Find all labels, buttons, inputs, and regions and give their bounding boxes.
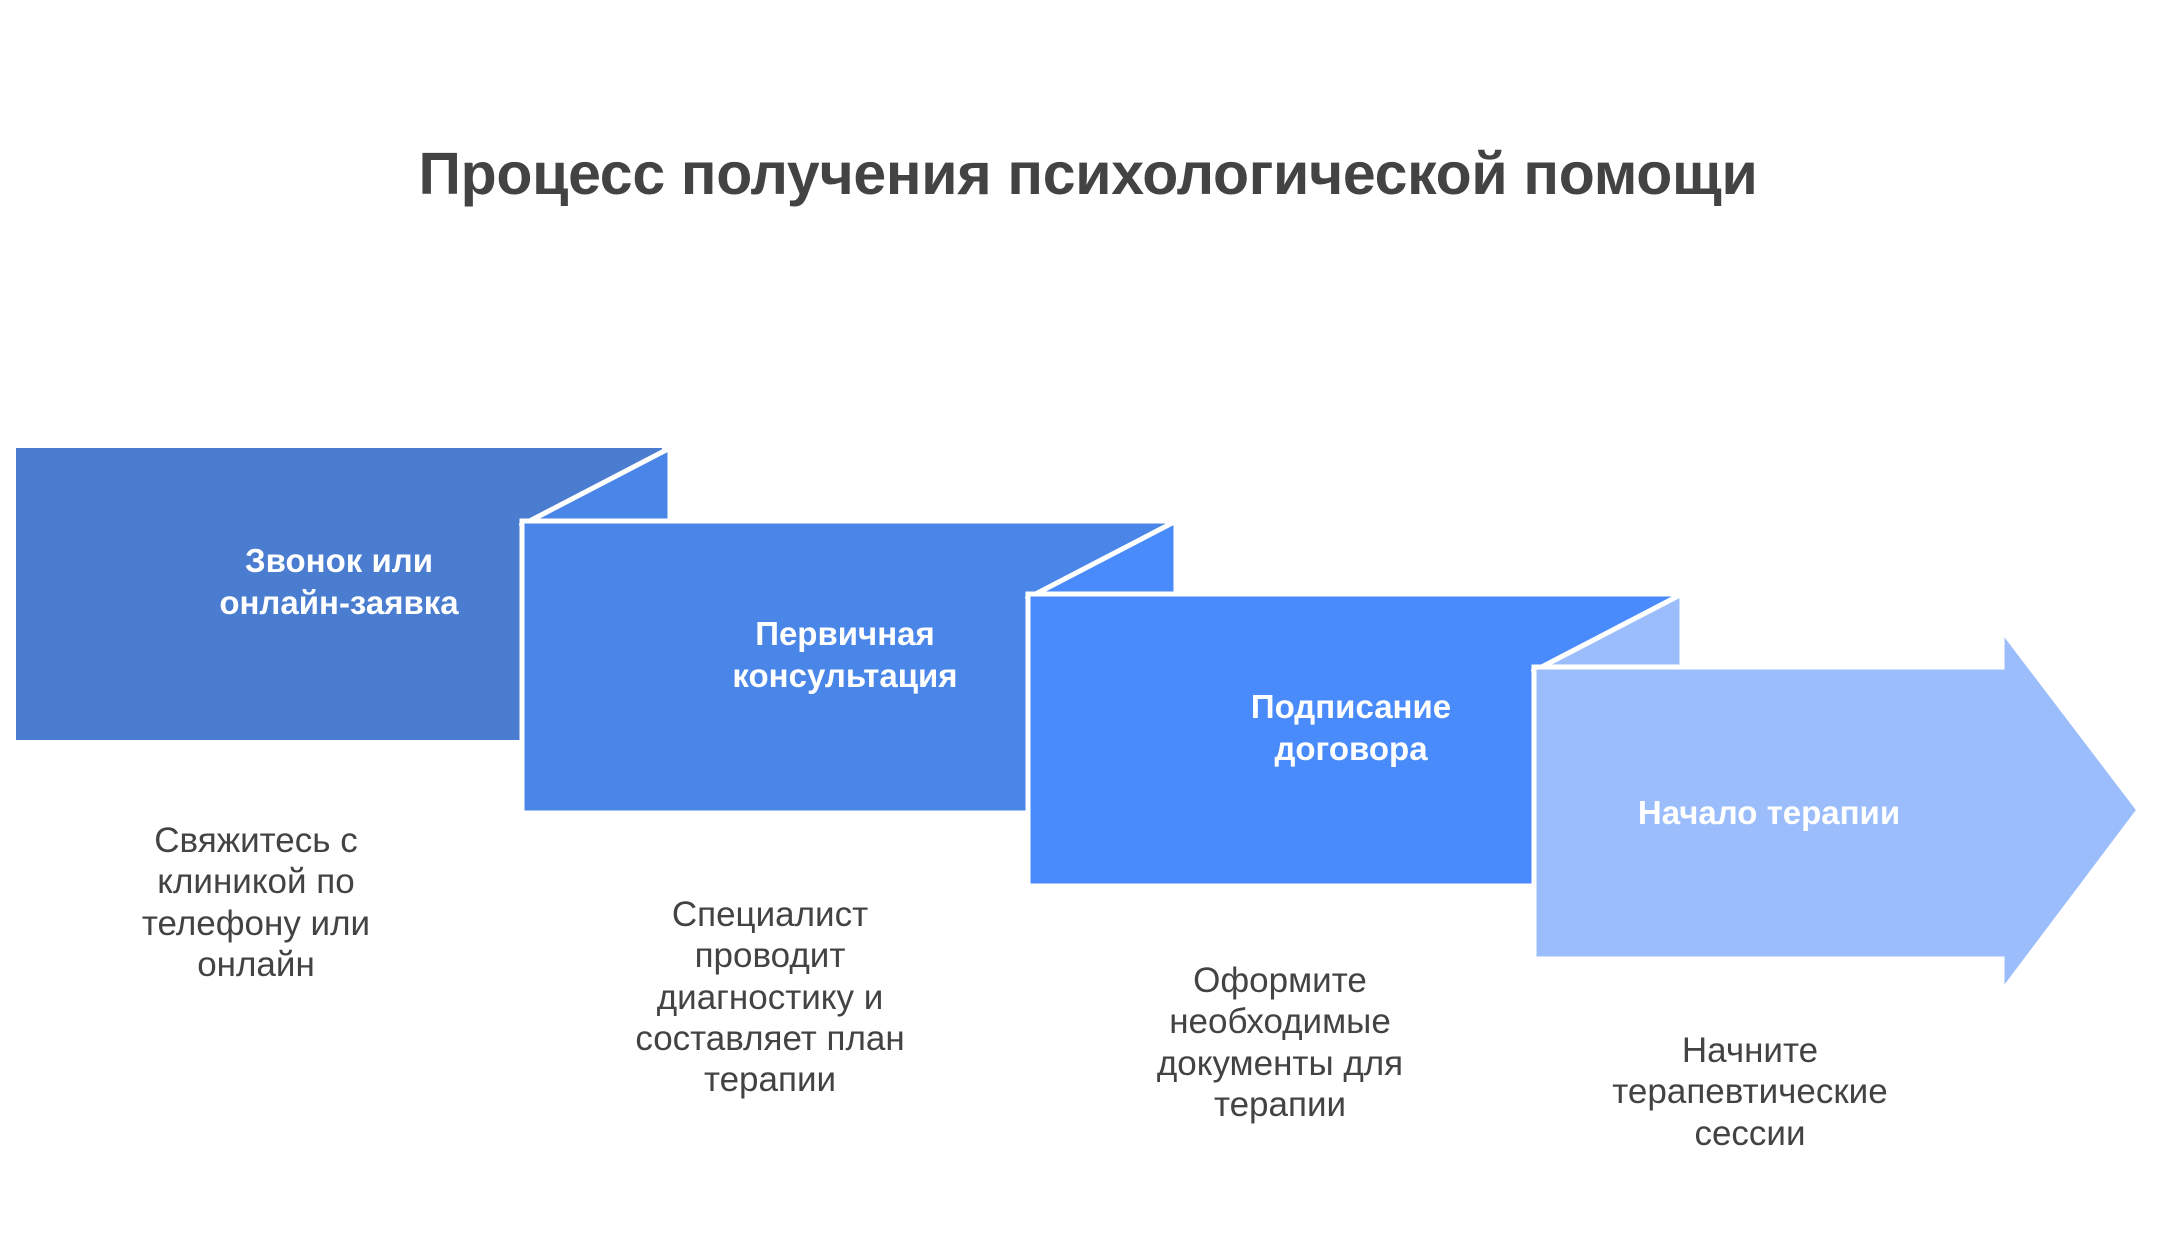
step-3-caption: Оформите необходимые документы для терап…	[1090, 960, 1470, 1125]
slide-canvas: Процесс получения психологической помощи…	[0, 0, 2176, 1256]
process-step-2-fold	[520, 448, 710, 530]
process-step-4-fold	[1532, 594, 1722, 676]
step-4-caption: Начните терапевтические сессии	[1545, 1030, 1955, 1154]
process-step-4[interactable]: Начало терапии	[1534, 667, 2174, 959]
step-2-caption: Специалист проводит диагностику и состав…	[570, 894, 970, 1100]
step-2-fold-shape	[520, 448, 710, 530]
process-step-3-fold	[1026, 521, 1216, 603]
process-diagram: Звонок или онлайн-заявка Свяжитесь с кли…	[0, 0, 2176, 1256]
step-4-fold-shape	[1532, 594, 1722, 676]
step-4-arrow-shape	[1534, 667, 2174, 959]
step-3-fold-shape	[1026, 521, 1216, 603]
step-1-caption: Свяжитесь с клиникой по телефону или онл…	[56, 820, 456, 985]
